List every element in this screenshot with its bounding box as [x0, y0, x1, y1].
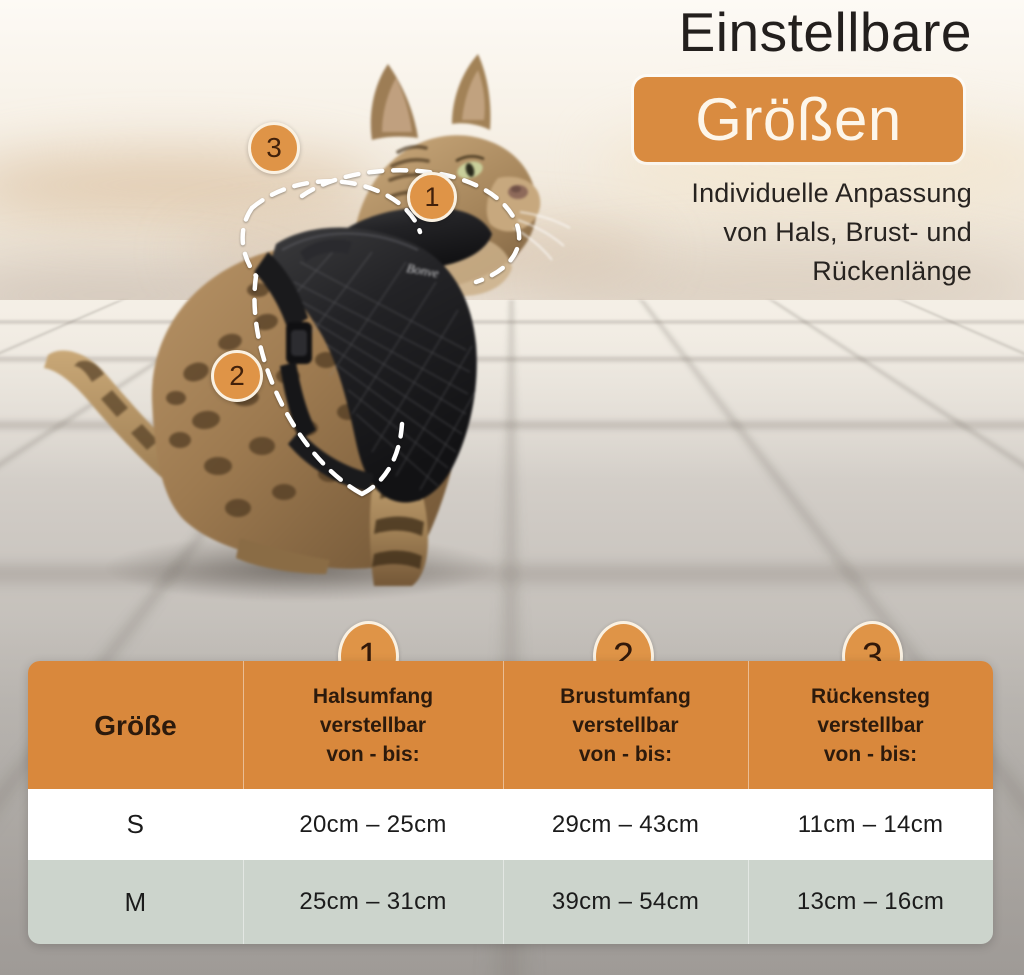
subtitle-line-1: Individuelle Anpassung	[540, 174, 972, 213]
table-header-size-label: Größe	[94, 711, 176, 740]
photo-callout-3-label: 3	[266, 134, 282, 162]
photo-callout-2: 2	[211, 350, 263, 402]
table-cell-back: 13cm – 16cm	[748, 860, 993, 944]
subtitle-line-2: von Hals, Brust- und	[540, 213, 972, 252]
table-cell-neck: 20cm – 25cm	[243, 789, 503, 860]
table-row: S 20cm – 25cm 29cm – 43cm 11cm – 14cm	[28, 789, 993, 860]
headline-subtitle: Individuelle Anpassung von Hals, Brust- …	[540, 174, 972, 291]
table-header-neck-line1: Halsumfang	[313, 682, 433, 711]
headline-einstellbare: Einstellbare	[560, 2, 972, 62]
table-header-neck: Halsumfang verstellbar von - bis:	[243, 661, 503, 789]
table-header-chest: Brustumfang verstellbar von - bis:	[503, 661, 748, 789]
infographic-stage: Bonve 1 2 3 Einstellbare Größen Individu…	[0, 0, 1024, 975]
table-header-chest-line3: von - bis:	[579, 740, 672, 769]
subtitle-line-3: Rückenlänge	[540, 252, 972, 291]
size-table: Größe Halsumfang verstellbar von - bis: …	[28, 661, 993, 944]
table-header-neck-line3: von - bis:	[326, 740, 419, 769]
table-column-divider	[243, 661, 244, 944]
table-cell-size: S	[28, 789, 243, 860]
table-header-back: Rückensteg verstellbar von - bis:	[748, 661, 993, 789]
table-cell-chest: 39cm – 54cm	[503, 860, 748, 944]
table-column-divider	[503, 661, 504, 944]
table-header-back-line1: Rückensteg	[811, 682, 930, 711]
table-cell-neck: 25cm – 31cm	[243, 860, 503, 944]
table-row: M 25cm – 31cm 39cm – 54cm 13cm – 16cm	[28, 860, 993, 944]
table-header-chest-line1: Brustumfang	[560, 682, 691, 711]
table-header-back-line3: von - bis:	[824, 740, 917, 769]
table-cell-size: M	[28, 860, 243, 944]
table-header-neck-line2: verstellbar	[320, 711, 426, 740]
table-header-chest-line2: verstellbar	[572, 711, 678, 740]
headline-groessen-label: Größen	[695, 90, 901, 150]
table-header-back-line2: verstellbar	[817, 711, 923, 740]
photo-callout-3: 3	[248, 122, 300, 174]
table-cell-chest: 29cm – 43cm	[503, 789, 748, 860]
table-column-divider	[748, 661, 749, 944]
table-header-row: Größe Halsumfang verstellbar von - bis: …	[28, 661, 993, 789]
photo-callout-1-label: 1	[424, 184, 439, 211]
headline-groessen-badge: Größen	[634, 77, 963, 162]
table-header-size: Größe	[28, 661, 243, 789]
photo-callout-2-label: 2	[229, 362, 245, 390]
table-cell-back: 11cm – 14cm	[748, 789, 993, 860]
photo-callout-1: 1	[407, 172, 457, 222]
